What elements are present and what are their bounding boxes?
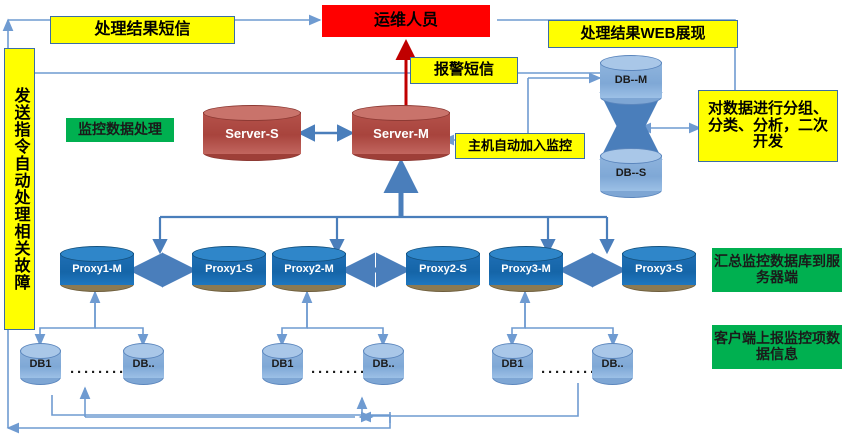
node-dbn-group3[interactable]: DB.. <box>592 343 633 385</box>
node-db-master[interactable]: DB--M <box>600 55 662 105</box>
node-proxy3-s[interactable]: Proxy3-S <box>622 246 696 292</box>
node-db1-group3[interactable]: DB1 <box>492 343 533 385</box>
node-proxy1-s[interactable]: Proxy1-S <box>192 246 266 292</box>
node-db-slave[interactable]: DB--S <box>600 148 662 198</box>
node-label: Proxy2-M <box>272 246 346 292</box>
node-label: Proxy1-M <box>60 246 134 292</box>
node-label: Server-M <box>352 105 450 161</box>
label-sms-result: 处理结果短信 <box>50 16 235 44</box>
label-aggregate-db: 汇总监控数据库到服务器端 <box>712 248 842 292</box>
node-server-s[interactable]: Server-S <box>203 105 301 161</box>
node-db1-group2[interactable]: DB1 <box>262 343 303 385</box>
node-label: DB.. <box>123 343 164 385</box>
node-proxy3-m[interactable]: Proxy3-M <box>489 246 563 292</box>
label-auto-join-monitor: 主机自动加入监控 <box>455 133 585 159</box>
label-web-result: 处理结果WEB展现 <box>548 20 738 48</box>
label-ops-staff: 运维人员 <box>322 5 490 37</box>
node-label: DB1 <box>492 343 533 385</box>
node-dbn-group1[interactable]: DB.. <box>123 343 164 385</box>
node-label: Proxy3-S <box>622 246 696 292</box>
node-db1-group1[interactable]: DB1 <box>20 343 61 385</box>
node-label: Server-S <box>203 105 301 161</box>
node-proxy2-m[interactable]: Proxy2-M <box>272 246 346 292</box>
node-label: DB--M <box>600 55 662 105</box>
label-alarm-sms: 报警短信 <box>410 57 518 84</box>
label-data-analysis: 对数据进行分组、分类、分析，二次开发 <box>698 90 838 162</box>
node-label: DB--S <box>600 148 662 198</box>
node-label: Proxy2-S <box>406 246 480 292</box>
node-proxy1-m[interactable]: Proxy1-M <box>60 246 134 292</box>
node-label: Proxy3-M <box>489 246 563 292</box>
node-label: DB1 <box>262 343 303 385</box>
architecture-diagram: 处理结果短信 运维人员 处理结果WEB展现 报警短信 主机自动加入监控 对数据进… <box>0 0 851 448</box>
node-label: Proxy1-S <box>192 246 266 292</box>
node-label: DB1 <box>20 343 61 385</box>
node-server-m[interactable]: Server-M <box>352 105 450 161</box>
label-monitor-data-process: 监控数据处理 <box>66 118 174 142</box>
label-send-command-auto-handle: 发送指令自动处理相关故障 <box>4 48 35 330</box>
node-dbn-group2[interactable]: DB.. <box>363 343 404 385</box>
node-label: DB.. <box>363 343 404 385</box>
node-proxy2-s[interactable]: Proxy2-S <box>406 246 480 292</box>
label-client-report: 客户端上报监控项数据信息 <box>712 325 842 369</box>
node-label: DB.. <box>592 343 633 385</box>
